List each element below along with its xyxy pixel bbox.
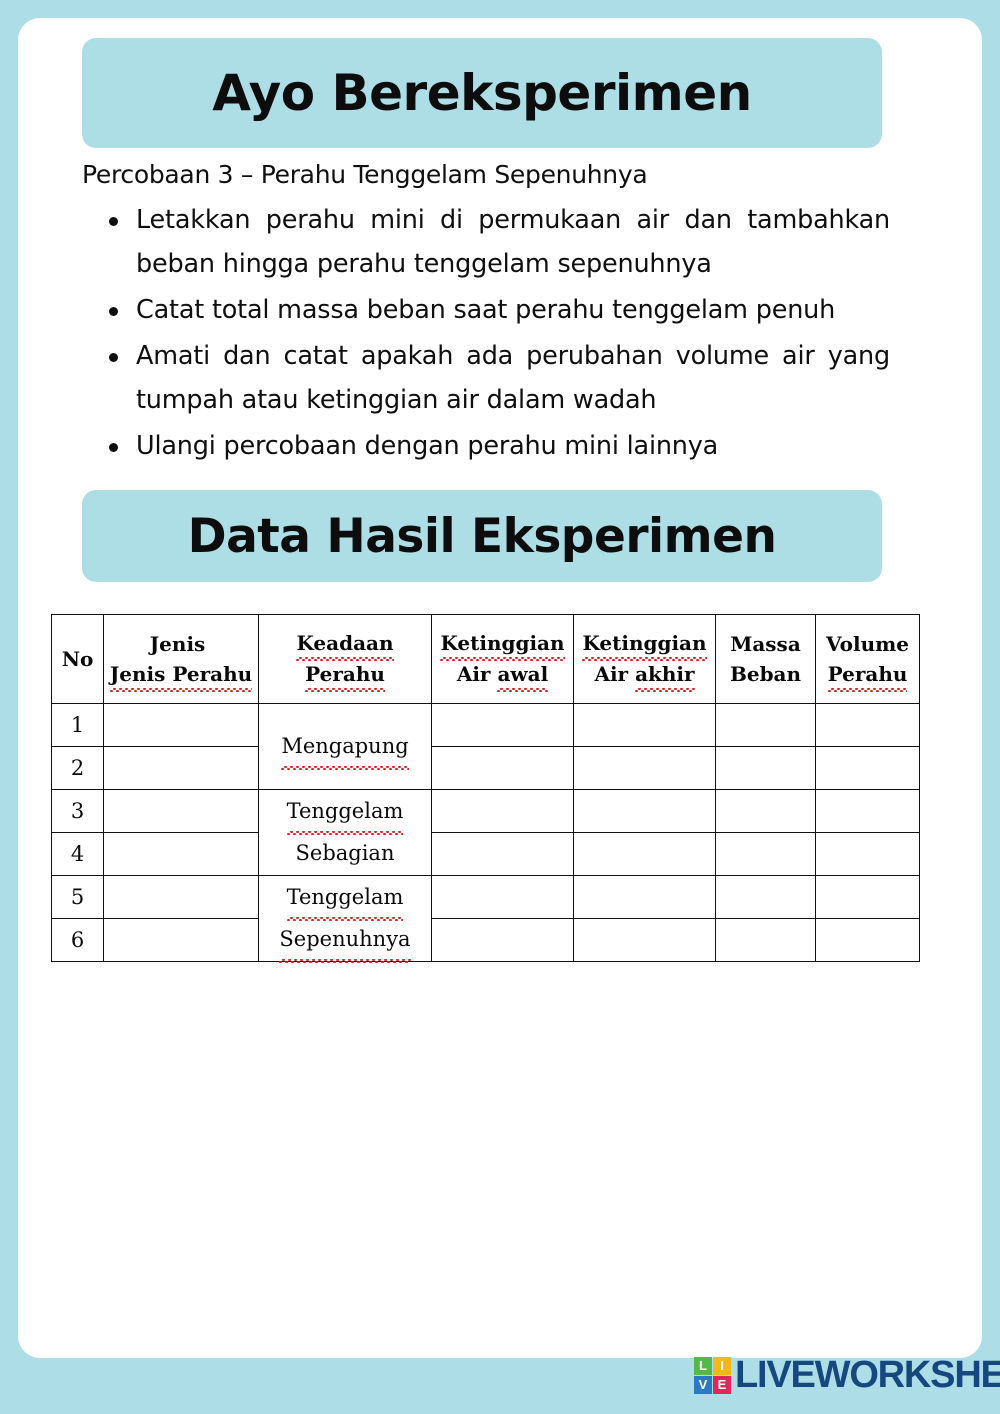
table-row: 2: [52, 747, 920, 790]
keadaan-perahu-cell: Tenggelam Sebagian: [259, 790, 432, 876]
ketinggian-air-akhir-cell[interactable]: [574, 833, 716, 876]
volume-perahu-cell[interactable]: [816, 876, 920, 919]
ketinggian-air-awal-cell[interactable]: [432, 919, 574, 962]
logo-tile-i: I: [713, 1357, 731, 1375]
jenis-perahu-cell[interactable]: [104, 919, 259, 962]
volume-perahu-cell[interactable]: [816, 704, 920, 747]
data-title-text: Data Hasil Eksperimen: [188, 509, 777, 564]
massa-beban-cell[interactable]: [716, 704, 816, 747]
list-item: Catat total massa beban saat perahu teng…: [100, 288, 890, 332]
table-row: 5 Tenggelam Sepenuhnya: [52, 876, 920, 919]
ketinggian-air-akhir-cell[interactable]: [574, 876, 716, 919]
column-header-jenis-perahu-text: Jenis Perahu: [110, 659, 252, 690]
liveworksheets-wordmark: LIVEWORKSHEETS: [735, 1356, 1000, 1394]
keadaan-perahu-cell: Tenggelam Sepenuhnya: [259, 876, 432, 962]
row-number-cell: 4: [52, 833, 104, 876]
massa-beban-cell[interactable]: [716, 919, 816, 962]
table-row: 4: [52, 833, 920, 876]
table-row: 3 Tenggelam Sebagian: [52, 790, 920, 833]
experiment-subtitle: Percobaan 3 – Perahu Tenggelam Sepenuhny…: [82, 160, 647, 189]
jenis-perahu-cell[interactable]: [104, 833, 259, 876]
experiment-results-table: No Jenis Jenis Perahu Keadaan Perahu Ket…: [51, 614, 920, 962]
row-number-cell: 2: [52, 747, 104, 790]
column-header-ketinggian-air-akhir: Ketinggian Air akhir: [574, 615, 716, 704]
volume-perahu-cell[interactable]: [816, 790, 920, 833]
experiment-title-text: Ayo Bereksperimen: [212, 64, 751, 122]
massa-beban-cell[interactable]: [716, 747, 816, 790]
ketinggian-air-akhir-cell[interactable]: [574, 919, 716, 962]
column-header-keadaan-perahu: Keadaan Perahu: [259, 615, 432, 704]
ketinggian-air-akhir-cell[interactable]: [574, 747, 716, 790]
jenis-perahu-cell[interactable]: [104, 790, 259, 833]
ketinggian-air-awal-cell[interactable]: [432, 747, 574, 790]
logo-tile-l: L: [694, 1357, 712, 1375]
column-header-ketinggian-air-awal: Ketinggian Air awal: [432, 615, 574, 704]
logo-tile-e: E: [713, 1376, 731, 1394]
logo-tile-v: V: [694, 1376, 712, 1394]
ketinggian-air-awal-cell[interactable]: [432, 833, 574, 876]
keadaan-perahu-cell: Mengapung: [259, 704, 432, 790]
experiment-title-banner: Ayo Bereksperimen: [82, 38, 882, 148]
row-number-cell: 6: [52, 919, 104, 962]
liveworksheets-logo[interactable]: L I V E LIVEWORKSHEETS: [694, 1352, 1000, 1398]
row-number-cell: 5: [52, 876, 104, 919]
ketinggian-air-akhir-cell[interactable]: [574, 790, 716, 833]
volume-perahu-cell[interactable]: [816, 747, 920, 790]
jenis-perahu-cell[interactable]: [104, 704, 259, 747]
liveworksheets-logo-tiles: L I V E: [694, 1357, 731, 1394]
list-item: Ulangi percobaan dengan perahu mini lain…: [100, 424, 890, 468]
row-number-cell: 3: [52, 790, 104, 833]
jenis-perahu-cell[interactable]: [104, 747, 259, 790]
table-row: 6: [52, 919, 920, 962]
list-item: Amati dan catat apakah ada perubahan vol…: [100, 334, 890, 422]
volume-perahu-cell[interactable]: [816, 919, 920, 962]
ketinggian-air-awal-cell[interactable]: [432, 704, 574, 747]
column-header-jenis-perahu: Jenis Jenis Perahu: [104, 615, 259, 704]
column-header-volume-perahu: Volume Perahu: [816, 615, 920, 704]
instruction-list: Letakkan perahu mini di permukaan air da…: [100, 198, 890, 470]
massa-beban-cell[interactable]: [716, 790, 816, 833]
data-title-banner: Data Hasil Eksperimen: [82, 490, 882, 582]
column-header-massa-beban: Massa Beban: [716, 615, 816, 704]
ketinggian-air-awal-cell[interactable]: [432, 790, 574, 833]
volume-perahu-cell[interactable]: [816, 833, 920, 876]
column-header-no: No: [52, 615, 104, 704]
massa-beban-cell[interactable]: [716, 876, 816, 919]
list-item: Letakkan perahu mini di permukaan air da…: [100, 198, 890, 286]
ketinggian-air-awal-cell[interactable]: [432, 876, 574, 919]
table-header-row: No Jenis Jenis Perahu Keadaan Perahu Ket…: [52, 615, 920, 704]
jenis-perahu-cell[interactable]: [104, 876, 259, 919]
massa-beban-cell[interactable]: [716, 833, 816, 876]
row-number-cell: 1: [52, 704, 104, 747]
table-row: 1 Mengapung: [52, 704, 920, 747]
ketinggian-air-akhir-cell[interactable]: [574, 704, 716, 747]
